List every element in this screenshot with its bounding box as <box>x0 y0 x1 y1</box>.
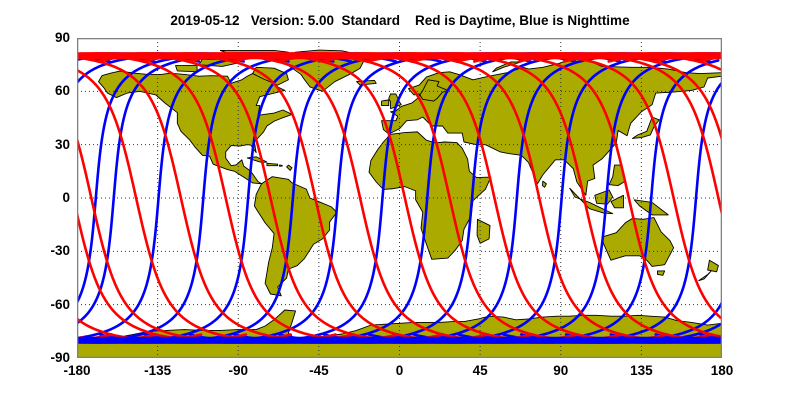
x-axis-tick-label: 180 <box>692 363 752 378</box>
y-axis-tick-label: 60 <box>20 83 70 98</box>
x-axis-tick-label: 45 <box>450 363 510 378</box>
y-axis-tick-label: 90 <box>20 30 70 45</box>
world-map-plot <box>77 38 722 358</box>
ground-track-map-figure: 2019-05-12 Version: 5.00 Standard Red is… <box>0 0 800 400</box>
landmass <box>267 163 278 165</box>
y-axis-tick-label: -60 <box>20 297 70 312</box>
landmass <box>382 100 389 106</box>
x-axis-tick-label: -180 <box>47 363 107 378</box>
plot-area <box>77 38 722 358</box>
landmass <box>176 66 198 72</box>
x-axis-tick-label: 90 <box>531 363 591 378</box>
x-axis-tick-label: -135 <box>128 363 188 378</box>
landmass <box>279 165 282 166</box>
y-axis-tick-label: 0 <box>20 190 70 205</box>
landmass <box>658 271 665 275</box>
x-axis-tick-label: -45 <box>289 363 349 378</box>
page-title: 2019-05-12 Version: 5.00 Standard Red is… <box>0 13 800 28</box>
y-axis-tick-label: -30 <box>20 243 70 258</box>
x-axis-tick-label: 0 <box>370 363 430 378</box>
x-axis-tick-label: 135 <box>611 363 671 378</box>
y-axis-tick-label: 30 <box>20 137 70 152</box>
x-axis-tick-label: -90 <box>208 363 268 378</box>
